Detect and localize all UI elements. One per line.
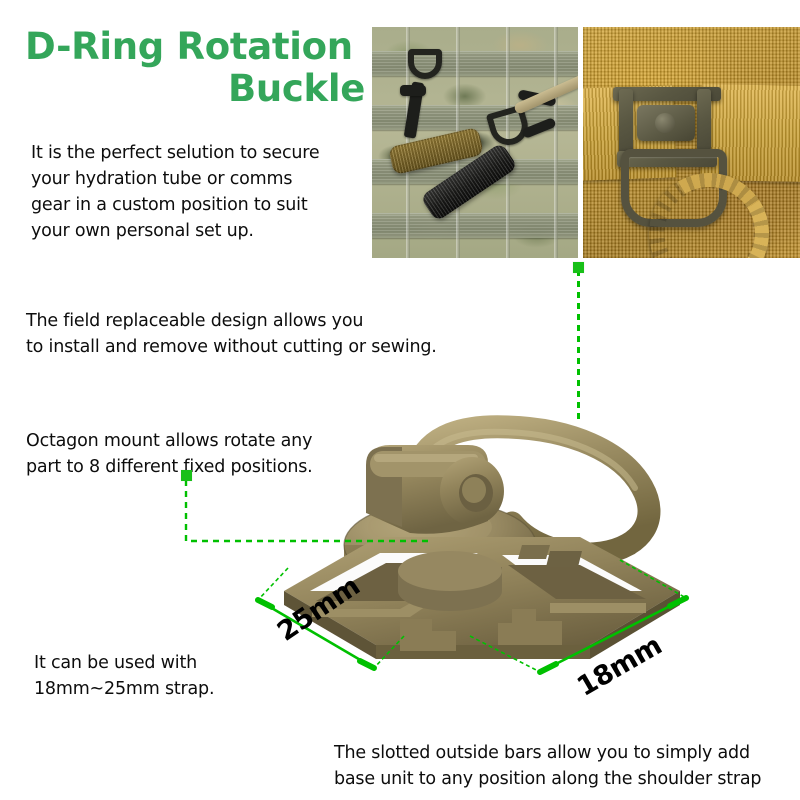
pals-stitch-line [554, 27, 558, 258]
buckle-right-post [697, 89, 711, 151]
page-title-line-1: D-Ring Rotation [25, 26, 353, 67]
dring-callout-marker [573, 262, 584, 273]
detent-tooth [546, 551, 582, 567]
product-render-d-ring-buckle [250, 395, 790, 685]
paragraph-intro: It is the perfect selution to secure you… [31, 140, 371, 244]
coyote-webbing-photo [583, 27, 800, 258]
pals-webbing-row [372, 51, 578, 76]
octagon-callout-marker [181, 470, 192, 481]
rotation-shaft-top [398, 551, 502, 591]
right-outside-bar [550, 603, 646, 613]
detent-tooth [518, 545, 550, 559]
infographic-canvas: D-Ring Rotation Buckle It is the perfect… [0, 0, 800, 800]
page-title-line-2: Buckle [25, 68, 365, 109]
pals-webbing-row [372, 213, 578, 238]
paragraph-field-replaceable: The field replaceable design allows you … [26, 308, 496, 360]
pivot-hole-inner [462, 477, 486, 503]
buckle-left-post [619, 89, 633, 157]
molle-multicam-photo [372, 27, 578, 258]
paragraph-slotted-bars: The slotted outside bars allow you to si… [334, 740, 800, 792]
product-illustration [250, 395, 790, 685]
rotation-pin [655, 113, 675, 133]
black-clip-crossbar [400, 85, 426, 96]
